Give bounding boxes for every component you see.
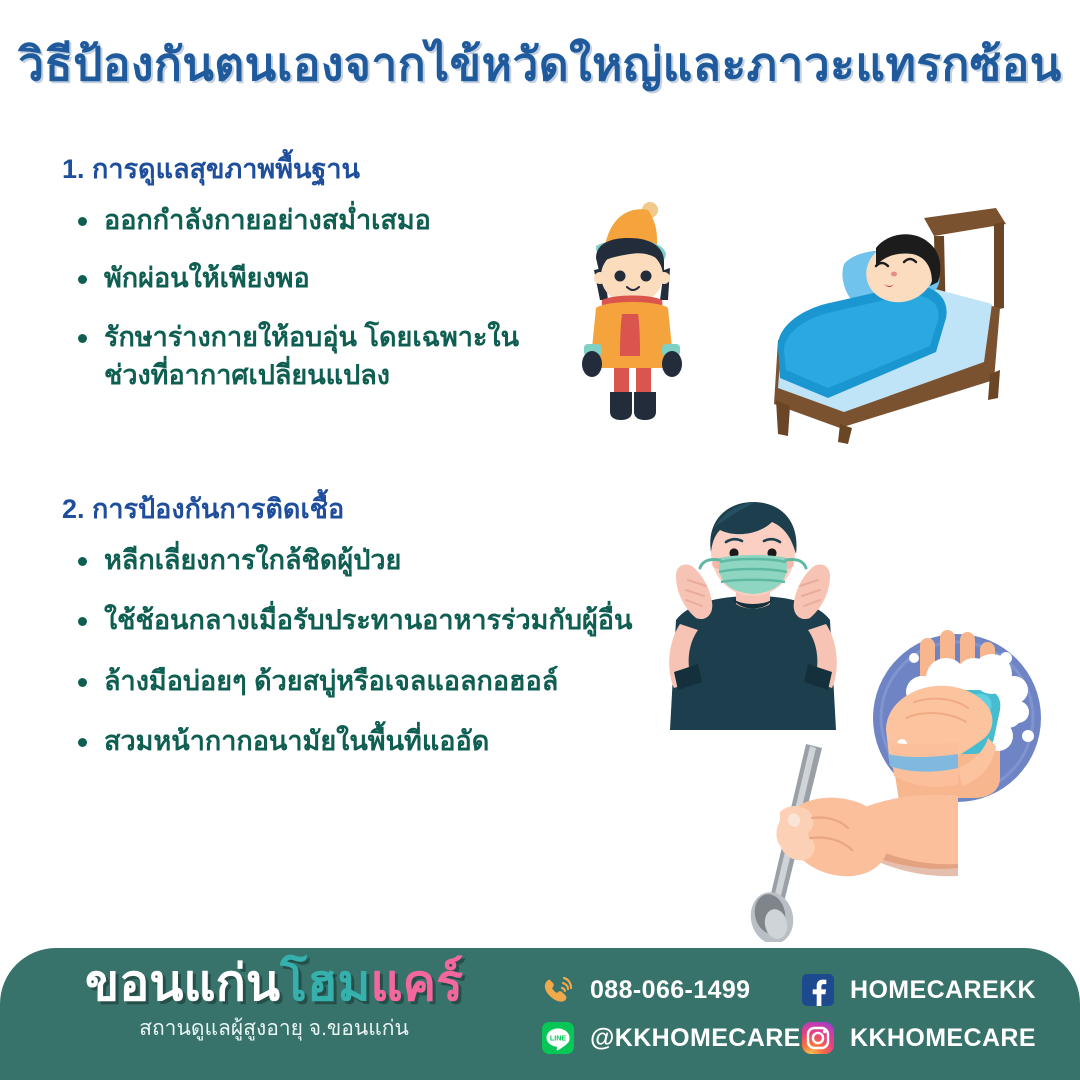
- line-icon: LINE: [540, 1020, 576, 1056]
- section-2-bullet-list: หลีกเลี่ยงการใกล้ชิดผู้ป่วย ใช้ช้อนกลางเ…: [62, 541, 632, 760]
- contact-info-group: 088-066-1499 HOMECAREKK: [540, 966, 1036, 1062]
- brand-name-part-home: โฮม: [280, 955, 370, 1011]
- list-item: ออกกำลังกายอย่างสม่ำเสมอ: [62, 201, 519, 239]
- list-item: หลีกเลี่ยงการใกล้ชิดผู้ป่วย: [62, 541, 632, 579]
- brand-logo: ขอนแก่นโฮมแคร์ สถานดูแลผู้สูงอายุ จ.ขอนแ…: [34, 956, 514, 1045]
- brand-name-part-khonkaen: ขอนแก่น: [85, 955, 280, 1011]
- facebook-icon: [800, 972, 836, 1008]
- brand-name: ขอนแก่นโฮมแคร์: [34, 956, 514, 1010]
- section-1-bullet-list: ออกกำลังกายอย่างสม่ำเสมอ พักผ่อนให้เพียง…: [62, 201, 519, 394]
- section-basic-health-care: 1. การดูแลสุขภาพพื้นฐาน ออกกำลังกายอย่าง…: [62, 152, 519, 414]
- contact-facebook[interactable]: HOMECAREKK: [800, 972, 1036, 1008]
- section-infection-prevention: 2. การป้องกันการติดเชื้อ หลีกเลี่ยงการใก…: [62, 492, 632, 782]
- list-item: ล้างมือบ่อยๆ ด้วยสบู่หรือเจลแอลกอฮอล์: [62, 662, 632, 700]
- svg-text:LINE: LINE: [550, 1034, 567, 1043]
- facebook-handle: HOMECAREKK: [850, 976, 1036, 1005]
- child-in-warm-clothing-illustration: [566, 196, 716, 426]
- phone-number: 088-066-1499: [590, 976, 751, 1005]
- line-id: @KKHOMECARE: [590, 1024, 801, 1053]
- footer-bar: ขอนแก่นโฮมแคร์ สถานดูแลผู้สูงอายุ จ.ขอนแ…: [0, 948, 1080, 1080]
- infographic-poster: วิธีป้องกันตนเองจากไข้หวัดใหญ่และภาวะแทร…: [0, 0, 1080, 1080]
- person-wearing-face-mask-illustration: [640, 500, 866, 760]
- list-item: ใช้ช้อนกลางเมื่อรับประทานอาหารร่วมกับผู้…: [62, 601, 632, 639]
- phone-icon: [540, 972, 576, 1008]
- brand-name-part-care: แคร์: [370, 955, 463, 1011]
- person-sleeping-in-bed-illustration: [748, 204, 1024, 444]
- instagram-icon: [800, 1020, 836, 1056]
- brand-tagline: สถานดูแลผู้สูงอายุ จ.ขอนแก่น: [34, 1012, 514, 1045]
- list-item: สวมหน้ากากอนามัยในพื้นที่แออัด: [62, 722, 632, 760]
- instagram-handle: KKHOMECARE: [850, 1024, 1036, 1053]
- contact-line[interactable]: LINE @KKHOMECARE: [540, 1020, 792, 1056]
- contact-phone[interactable]: 088-066-1499: [540, 972, 792, 1008]
- page-title: วิธีป้องกันตนเองจากไข้หวัดใหญ่และภาวะแทร…: [0, 36, 1080, 94]
- hand-holding-serving-spoon-illustration: [740, 742, 958, 942]
- contact-instagram[interactable]: KKHOMECARE: [800, 1020, 1036, 1056]
- list-item: รักษาร่างกายให้อบอุ่น โดยเฉพาะใน ช่วงที่…: [62, 318, 519, 395]
- section-1-heading: 1. การดูแลสุขภาพพื้นฐาน: [62, 152, 519, 187]
- section-2-heading: 2. การป้องกันการติดเชื้อ: [62, 492, 632, 527]
- list-item: พักผ่อนให้เพียงพอ: [62, 259, 519, 297]
